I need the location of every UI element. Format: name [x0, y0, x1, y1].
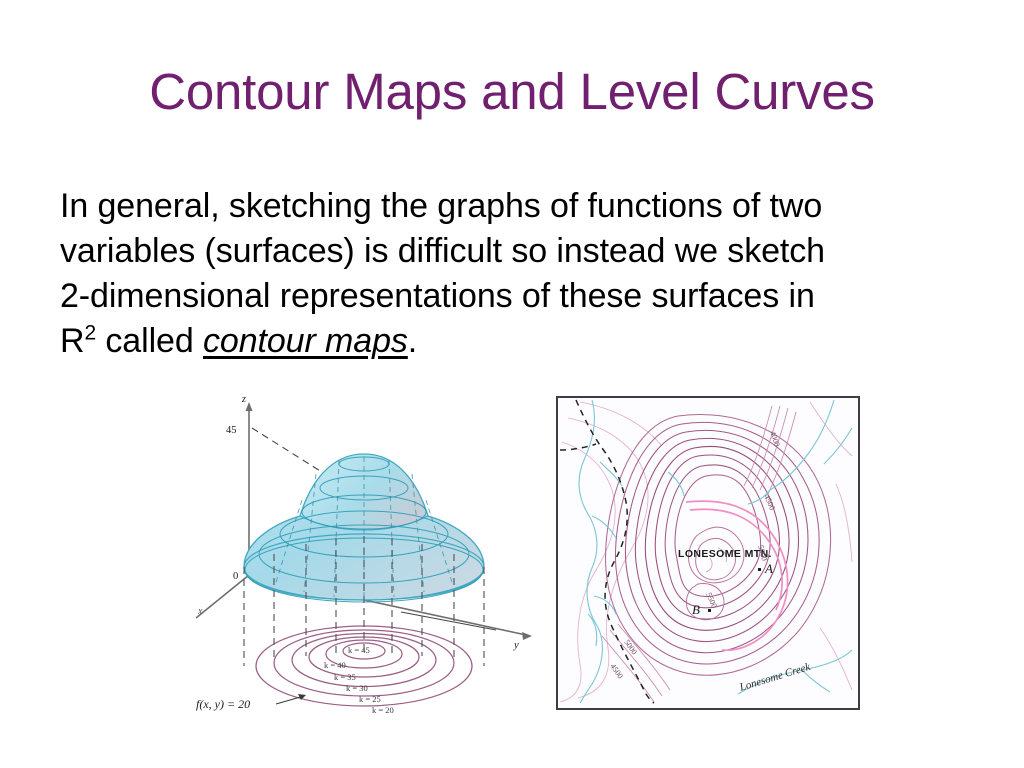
z-tick-0-label: 0 [233, 571, 238, 582]
surface-dome [300, 454, 428, 530]
body-line-2: variables (surfaces) is difficult so ins… [60, 229, 964, 274]
label-k30: k = 30 [346, 683, 368, 693]
y-axis-arrowhead [522, 632, 532, 640]
surface-group [244, 454, 484, 602]
body-line-4: R2 called contour maps. [60, 319, 964, 364]
x-axis [196, 575, 249, 618]
leader-rim-to-y-axis [401, 612, 496, 630]
r-exponent: 2 [84, 322, 96, 345]
point-a-dot [758, 568, 761, 571]
point-b-label: B [692, 602, 700, 618]
body-period: . [408, 322, 417, 360]
z-axis-arrowhead [246, 402, 253, 411]
body-line-3: 2-dimensional representations of these s… [60, 274, 964, 319]
x-axis-label: x [197, 606, 203, 617]
r-symbol: R [60, 322, 84, 360]
contour-maps-term: contour maps [203, 322, 408, 360]
z-tick-45-label: 45 [226, 425, 237, 436]
called-text: called [96, 322, 203, 360]
figures-row: z 45 0 x y [0, 392, 1024, 732]
label-k20: k = 20 [372, 705, 394, 715]
surface-figure: z 45 0 x y [196, 392, 548, 728]
page-title: Contour Maps and Level Curves [0, 62, 1024, 122]
level-curve-k30 [292, 634, 436, 687]
label-k25: k = 25 [359, 694, 381, 704]
label-k40: k = 40 [324, 660, 346, 670]
z-axis-label: z [241, 394, 246, 405]
topo-map-figure: LONESOME MTN. A B Lonesome Creek 4000 45… [556, 396, 860, 710]
surface-svg: z 45 0 x y [196, 392, 548, 728]
label-k45: k = 45 [348, 645, 370, 655]
label-k35: k = 35 [334, 672, 356, 682]
function-value-label: f(x, y) = 20 [196, 697, 250, 711]
point-a-label: A [765, 561, 773, 577]
slide-root: Contour Maps and Level Curves In general… [0, 0, 1024, 768]
point-b-dot [708, 609, 711, 612]
lonesome-mtn-label: LONESOME MTN. [678, 548, 772, 560]
body-line-1: In general, sketching the graphs of func… [60, 184, 964, 229]
body-text-block: In general, sketching the graphs of func… [60, 184, 964, 364]
y-axis-label: y [513, 640, 519, 651]
